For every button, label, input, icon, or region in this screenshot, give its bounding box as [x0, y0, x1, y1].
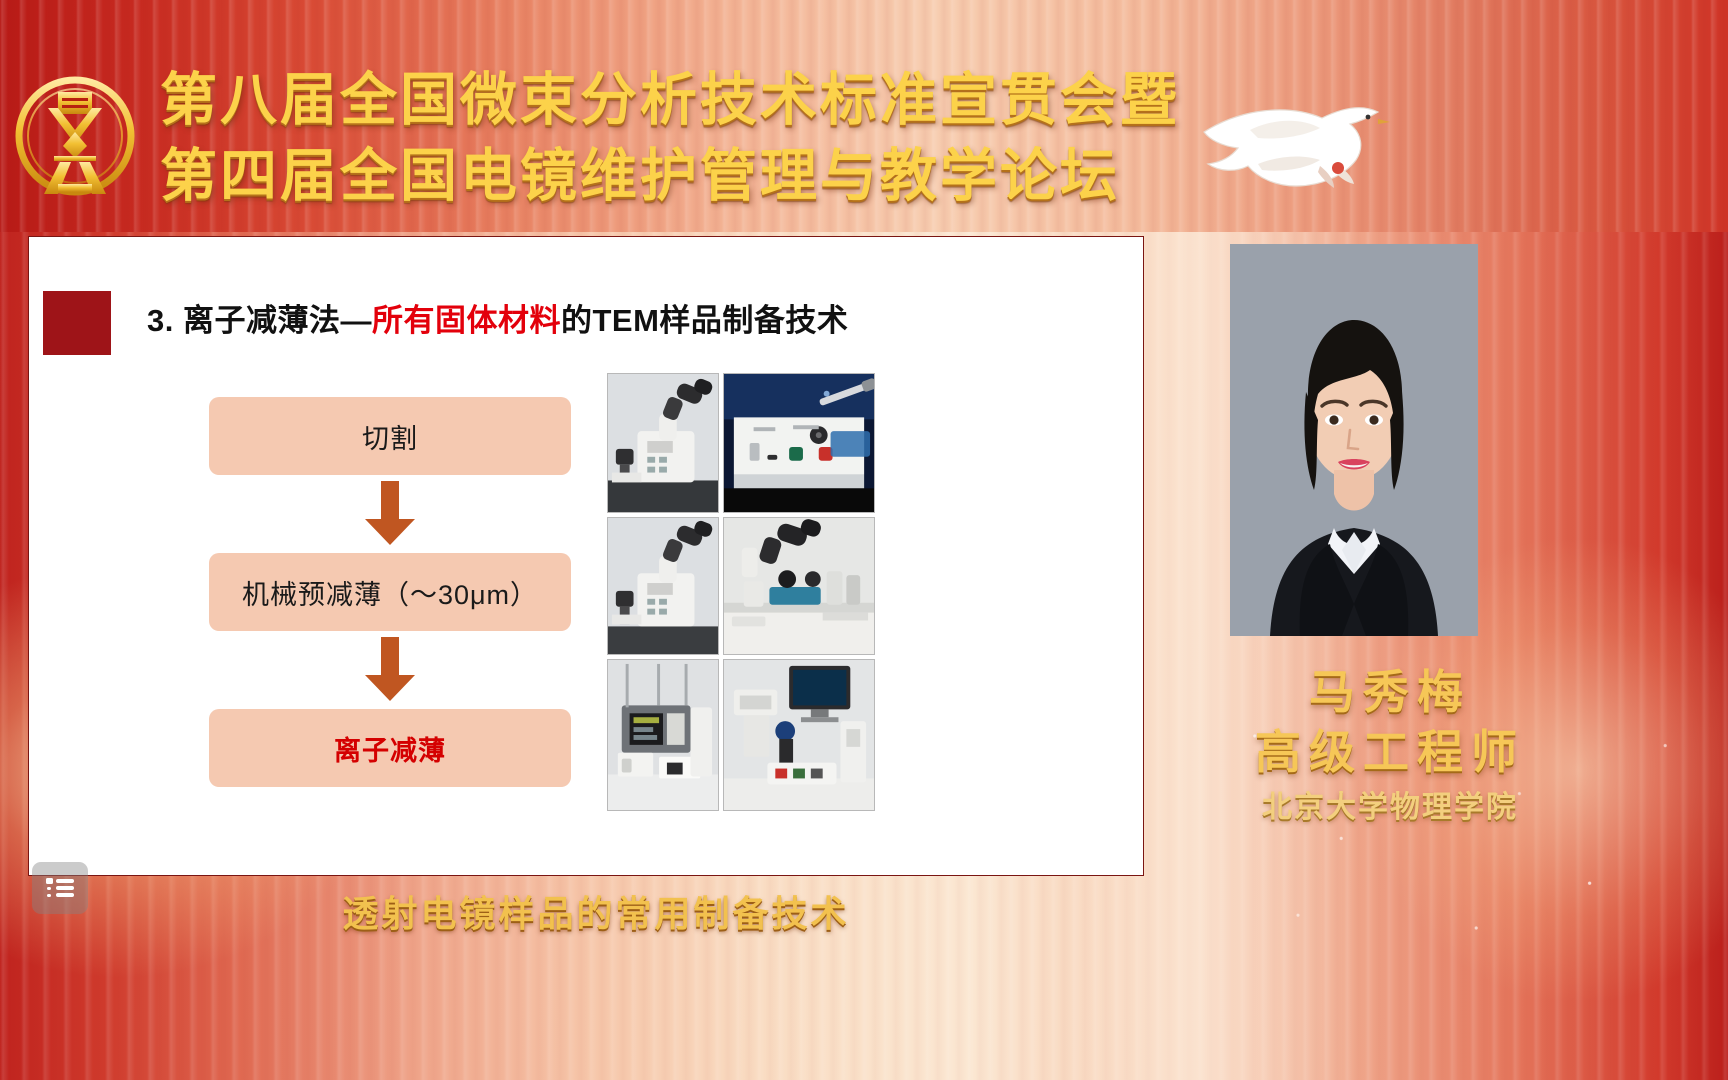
photo-cutting-microscope-2[interactable]: [607, 517, 719, 655]
slide-heading: 3. 离子减薄法—所有固体材料的TEM样品制备技术: [147, 295, 848, 340]
list-icon: [46, 876, 74, 900]
flow-step-cutting: 切割: [209, 397, 571, 475]
session-caption: 透射电镜样品的常用制备技术: [316, 880, 876, 942]
speaker-name: 马秀梅: [1180, 656, 1600, 722]
banner-title-line1: 第八届全国微束分析技术标准宣贯会暨: [160, 68, 1180, 132]
flow-step-ion-milling: 离子减薄: [209, 709, 571, 787]
dove-icon: [1192, 60, 1402, 210]
presentation-stage: 第八届全国微束分析技术标准宣贯会暨 第四届全国电镜维护管理与教学论坛 3. 离子…: [0, 0, 1728, 1080]
flow-arrow-1-icon: [209, 475, 571, 553]
photo-ion-mill-instrument[interactable]: [607, 659, 719, 811]
flow-step-prethinning: 机械预减薄（～30μm）: [209, 553, 571, 631]
photo-cutting-machine-panel[interactable]: [723, 373, 875, 513]
flow-arrow-2-icon: [209, 631, 571, 709]
banner-title: 第八届全国微束分析技术标准宣贯会暨 第四届全国电镜维护管理与教学论坛: [160, 62, 1170, 214]
slide-bullet-marker: [43, 291, 111, 355]
slide-heading-prefix: 3. 离子减薄法—: [147, 303, 372, 338]
banner-title-line2: 第四届全国电镜维护管理与教学论坛: [160, 138, 1170, 214]
photo-cutting-microscope-1[interactable]: [607, 373, 719, 513]
photo-ion-mill-console[interactable]: [723, 659, 875, 811]
speaker-affiliation: 北京大学物理学院: [1180, 782, 1600, 826]
slide-heading-suffix: 的TEM样品制备技术: [561, 303, 848, 338]
conference-banner: 第八届全国微束分析技术标准宣贯会暨 第四届全国电镜维护管理与教学论坛: [0, 0, 1728, 232]
equipment-photo-grid: [607, 373, 879, 813]
slide-list-toggle[interactable]: [32, 862, 88, 914]
speaker-portrait: [1230, 244, 1478, 636]
conference-emblem-icon: [14, 58, 136, 208]
slide-canvas: 3. 离子减薄法—所有固体材料的TEM样品制备技术 切割 机械预减薄（～30μm…: [29, 237, 1143, 875]
photo-polishing-stage[interactable]: [723, 517, 875, 655]
slide-content[interactable]: 3. 离子减薄法—所有固体材料的TEM样品制备技术 切割 机械预减薄（～30μm…: [28, 236, 1144, 876]
process-flowchart: 切割 机械预减薄（～30μm） 离子减薄: [209, 397, 571, 787]
slide-heading-highlight: 所有固体材料: [372, 303, 561, 338]
speaker-title: 高级工程师: [1180, 716, 1600, 782]
